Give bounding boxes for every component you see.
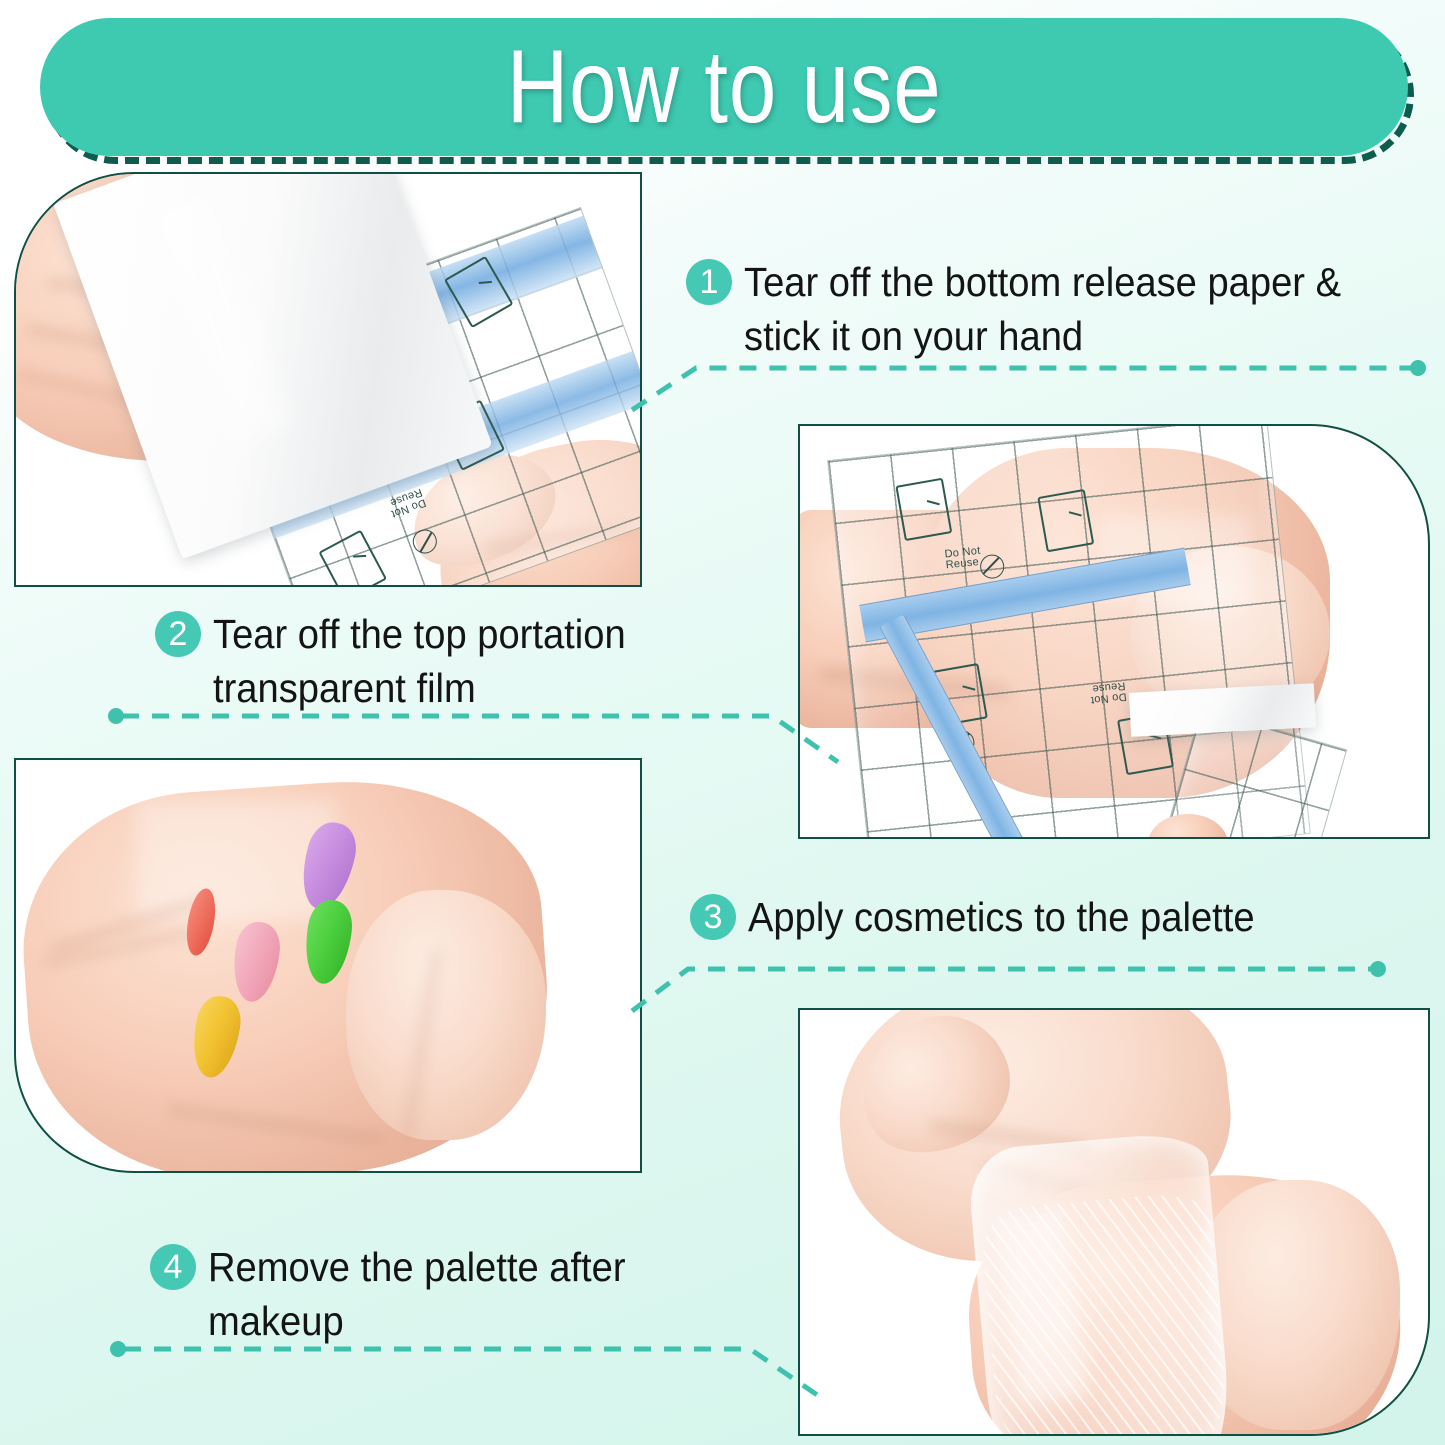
photo-step-3 [14,758,642,1173]
step-4-badge: 4 [150,1244,196,1290]
step-1-badge: 1 [686,259,732,305]
knuckle-ridge [346,890,546,1140]
step-1: 1 Tear off the bottom release paper & st… [686,255,1431,363]
scene-remove-palette [800,1010,1428,1434]
photo-step-4 [798,1008,1430,1436]
scene-cosmetic-swatches [16,760,640,1171]
connector-step-1 [630,352,1430,412]
photo-step-2: Do Not Reuse Do Not Reuse [798,424,1430,839]
scene-peel-release-paper: Do Not Reuse Do Not Reuse [16,174,640,585]
step-4: 4 Remove the palette after makeup [150,1240,790,1348]
step-2-text: Tear off the top portation transparent f… [213,607,626,715]
step-3-badge: 3 [690,894,736,940]
do-not-reuse-label-a: Do Not Reuse [944,546,982,572]
step-3-text: Apply cosmetics to the palette [748,890,1255,944]
photo-step-1: Do Not Reuse Do Not Reuse [14,172,642,587]
page-title: How to use [507,35,942,139]
connector-step-3 [630,955,1390,1015]
step-4-text: Remove the palette after makeup [208,1240,626,1348]
banner-pill: How to use [40,18,1408,156]
header-banner: How to use [40,18,1408,156]
scene-peel-top-film: Do Not Reuse Do Not Reuse [800,426,1428,837]
step-3: 3 Apply cosmetics to the palette [690,890,1410,944]
step-2: 2 Tear off the top portation transparent… [155,607,795,715]
infographic-page: How to use [0,0,1445,1445]
step-1-text: Tear off the bottom release paper & stic… [744,255,1341,363]
connector-step-2 [108,700,848,764]
step-2-badge: 2 [155,611,201,657]
peel-corner-icon-b [1037,489,1094,552]
do-not-reuse-label-b: Do Not Reuse [1089,679,1127,705]
peel-corner-icon-a [895,478,952,541]
connector-step-4 [110,1335,840,1405]
